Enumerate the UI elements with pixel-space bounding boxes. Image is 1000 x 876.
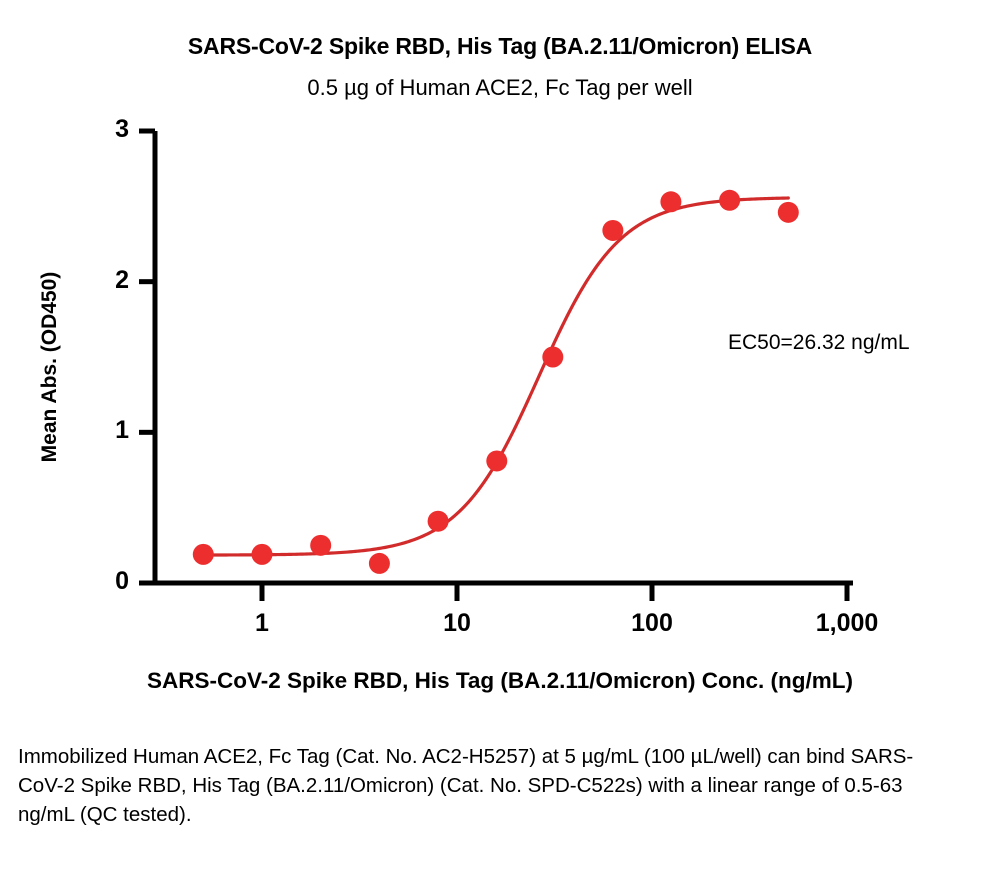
x-tick-label-0: 1	[202, 611, 322, 636]
data-point-0-8	[660, 191, 681, 212]
data-point-0-3	[369, 553, 390, 574]
y-tick-label-0: 0	[89, 569, 129, 594]
fit-curve-group	[203, 198, 788, 555]
elisa-binding-figure: SARS-CoV-2 Spike RBD, His Tag (BA.2.11/O…	[0, 0, 1000, 876]
data-point-0-9	[719, 190, 740, 211]
data-point-0-1	[252, 544, 273, 565]
data-point-0-7	[602, 220, 623, 241]
data-point-0-2	[310, 535, 331, 556]
fit-curve-path	[203, 198, 788, 555]
x-axis-title: SARS-CoV-2 Spike RBD, His Tag (BA.2.11/O…	[0, 668, 1000, 694]
data-point-0-6	[542, 347, 563, 368]
y-axis-title: Mean Abs. (OD450)	[38, 237, 62, 497]
data-point-0-5	[486, 450, 507, 471]
figure-caption: Immobilized Human ACE2, Fc Tag (Cat. No.…	[18, 742, 918, 829]
x-tick-label-1: 10	[397, 611, 517, 636]
y-tick-label-2: 2	[89, 268, 129, 293]
axes-group	[139, 131, 853, 601]
data-point-0-10	[778, 202, 799, 223]
y-tick-label-3: 3	[89, 117, 129, 142]
data-point-0-0	[193, 544, 214, 565]
x-tick-label-3: 1,000	[787, 611, 907, 636]
ec50-annotation: EC50=26.32 ng/mL	[728, 331, 910, 355]
y-tick-label-1: 1	[89, 418, 129, 443]
x-tick-label-2: 100	[592, 611, 712, 636]
data-points-group	[193, 190, 799, 574]
data-point-0-4	[428, 511, 449, 532]
